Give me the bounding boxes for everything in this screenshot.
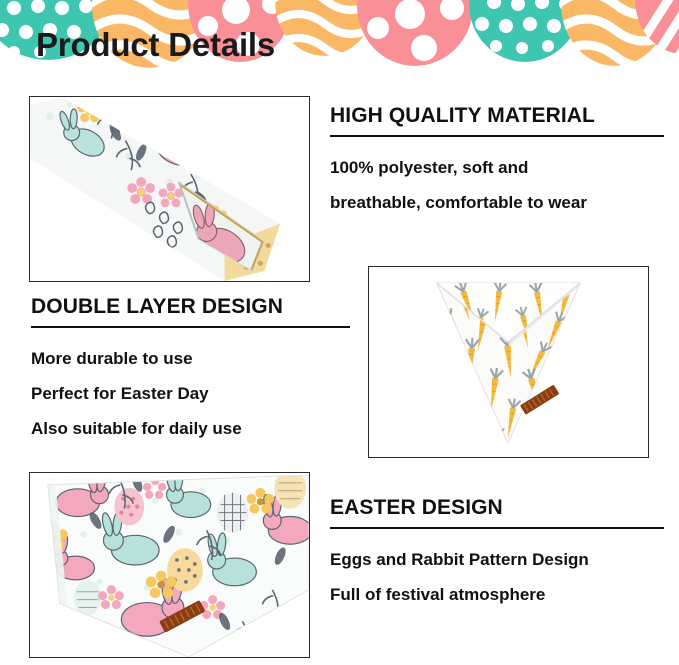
folded-bandana-photo (29, 96, 310, 282)
body-line: More durable to use (31, 341, 351, 376)
egg-pink-dots-2 (357, 0, 473, 66)
section-heading: EASTER DESIGN (330, 496, 664, 519)
section-heading: HIGH QUALITY MATERIAL (330, 104, 664, 127)
section-body: Eggs and Rabbit Pattern Design Full of f… (330, 542, 664, 612)
heading-rule (330, 527, 664, 529)
page-title: Product Details (36, 26, 275, 64)
carrot-bandana-image (369, 267, 648, 457)
heading-rule (31, 326, 350, 328)
body-line: Also suitable for daily use (31, 411, 351, 446)
heading-rule (330, 135, 664, 137)
egg-mint-mesh-left (74, 580, 102, 616)
header-decoration-band: Product Details (0, 0, 679, 92)
section-body: 100% polyester, soft and breathable, com… (330, 150, 664, 220)
body-line: breathable, comfortable to wear (330, 185, 664, 220)
section-double-layer-design: DOUBLE LAYER DESIGN More durable to use … (31, 295, 351, 446)
section-body: More durable to use Perfect for Easter D… (31, 341, 351, 446)
body-line: Perfect for Easter Day (31, 376, 351, 411)
body-line: Eggs and Rabbit Pattern Design (330, 542, 664, 577)
section-high-quality-material: HIGH QUALITY MATERIAL 100% polyester, so… (330, 104, 664, 220)
product-details-page: Product Details (0, 0, 679, 665)
body-line: Full of festival atmosphere (330, 577, 664, 612)
carrot-bandana-photo (368, 266, 649, 458)
folded-bandana-image (30, 97, 309, 281)
egg-pink-dotted (114, 488, 144, 526)
rabbit-bandana-image (30, 473, 309, 657)
section-heading: DOUBLE LAYER DESIGN (31, 295, 351, 318)
section-easter-design: EASTER DESIGN Eggs and Rabbit Pattern De… (330, 496, 664, 612)
egg-gray-grid (217, 493, 249, 533)
body-line: 100% polyester, soft and (330, 150, 664, 185)
rabbit-bandana-photo (29, 472, 310, 658)
